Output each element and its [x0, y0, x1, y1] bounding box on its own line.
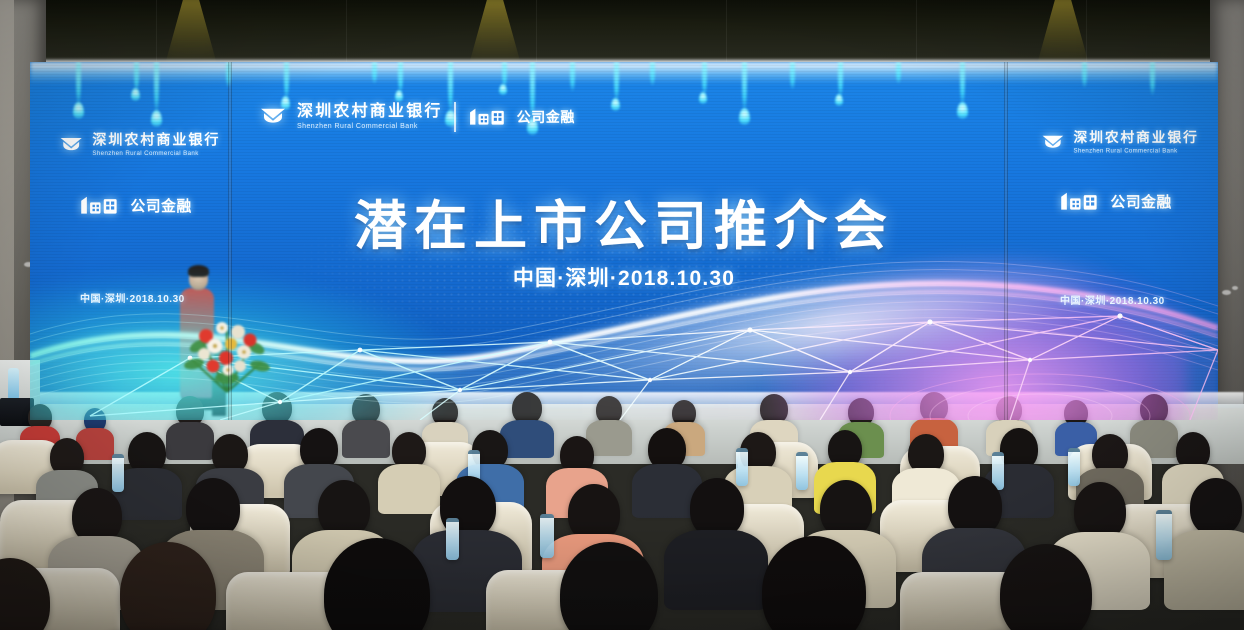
water-bottle [1068, 448, 1080, 486]
center-header-logo: 深圳农村商业银行 Shenzhen Rural Commercial Bank [258, 102, 575, 132]
water-bottle [446, 518, 459, 560]
screen-panel-divider [228, 62, 232, 420]
bank-name-en: Shenzhen Rural Commercial Bank [92, 150, 220, 156]
water-bottle [796, 452, 808, 490]
screen-top-glow [30, 62, 1218, 84]
floral-arrangement [182, 300, 272, 400]
water-bottle [736, 448, 748, 486]
corporate-finance-label: 公司金融 [131, 195, 192, 216]
water-bottle [1156, 510, 1172, 560]
bank-name-cn: 深圳农村商业银行 [1074, 132, 1199, 146]
left-panel-date: 中国·深圳·2018.10.30 [80, 290, 185, 305]
conference-photo: 深圳农村商业银行 Shenzhen Rural Commercial Bank [0, 0, 1244, 630]
corporate-finance-mark: 公司金融 [467, 106, 575, 128]
corporate-finance-glyph-icon [78, 194, 126, 217]
bank-name-en: Shenzhen Rural Commercial Bank [297, 123, 443, 130]
corporate-finance-label: 公司金融 [517, 107, 575, 127]
ceiling [36, 0, 1216, 66]
bank-chevron-mark-icon [58, 132, 84, 158]
corporate-finance-glyph-icon [467, 106, 513, 128]
screen-panel-divider [1004, 62, 1008, 420]
bank-name-en: Shenzhen Rural Commercial Bank [1074, 148, 1199, 154]
bank-chevron-mark-icon [1040, 130, 1066, 156]
left-panel-corporate-finance-mark: 公司金融 [78, 194, 192, 217]
bank-name-cn: 深圳农村商业银行 [92, 134, 220, 148]
audience-area [0, 392, 1244, 630]
right-panel-corporate-finance-mark: 公司金融 [1058, 190, 1172, 213]
right-panel-logo: 深圳农村商业银行 Shenzhen Rural Commercial Bank [1040, 130, 1199, 156]
corporate-finance-glyph-icon [1058, 190, 1106, 213]
ceiling-spotlight-beam [164, 0, 218, 66]
bank-name-cn: 深圳农村商业银行 [297, 104, 443, 120]
left-panel-logo: 深圳农村商业银行 Shenzhen Rural Commercial Bank [58, 132, 220, 158]
water-bottle [540, 514, 554, 558]
bank-chevron-mark-icon [258, 102, 288, 132]
ceiling-spotlight-beam [468, 0, 522, 66]
event-sub-title: 中国·深圳·2018.10.30 [30, 262, 1218, 292]
right-panel-date: 中国·深圳·2018.10.30 [1060, 292, 1165, 307]
ceiling-spotlight-beam [1036, 0, 1090, 66]
logo-divider [454, 102, 456, 132]
event-main-title: 潜在上市公司推介会 [30, 184, 1218, 260]
corporate-finance-label: 公司金融 [1111, 191, 1172, 212]
water-bottle [112, 454, 124, 492]
